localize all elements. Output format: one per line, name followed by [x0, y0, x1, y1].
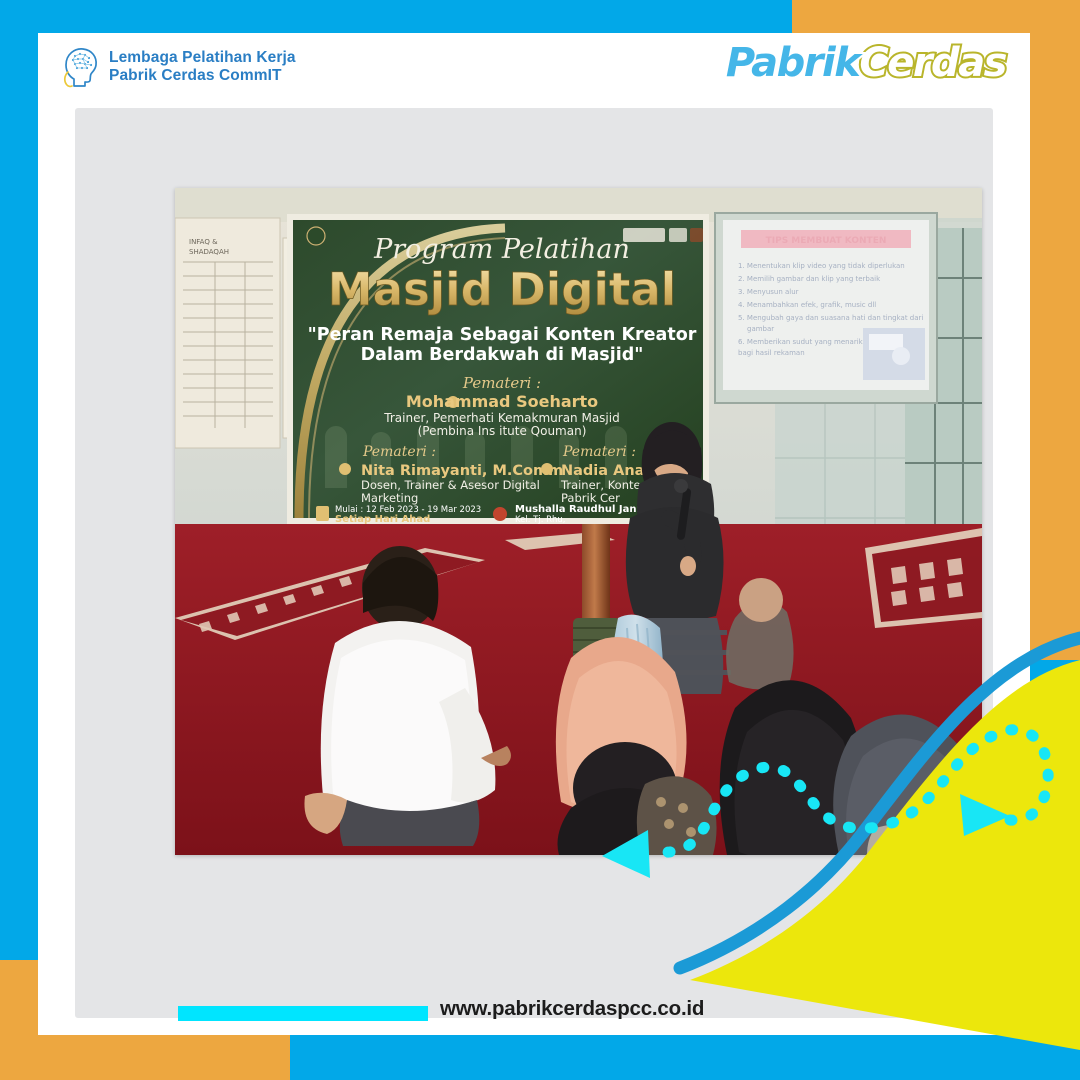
frame-right-blue [1030, 660, 1080, 1080]
brain-head-icon [60, 45, 100, 89]
svg-text:gambar: gambar [747, 325, 774, 333]
svg-text:Mushalla Raudhul Jannah: Mushalla Raudhul Jannah [515, 504, 657, 515]
svg-text:4. Menambahkan efek, grafik, m: 4. Menambahkan efek, grafik, music dll [738, 301, 876, 309]
svg-text:Pemateri :: Pemateri : [562, 444, 636, 460]
svg-text:Marketing: Marketing [361, 491, 418, 505]
banner-title: Masjid Digital [328, 263, 676, 316]
svg-text:INFAQ &: INFAQ & [189, 238, 218, 246]
svg-text:Pabrik Cer: Pabrik Cer [561, 491, 620, 505]
brand-text: Lembaga Pelatihan Kerja Pabrik Cerdas Co… [109, 49, 296, 86]
svg-text:Pemateri :: Pemateri : [462, 374, 541, 392]
svg-text:Setiap Hari Ahad: Setiap Hari Ahad [335, 514, 430, 525]
svg-text:1. Menentukan klip video yang: 1. Menentukan klip video yang tidak dipe… [738, 262, 905, 270]
logo-word-cerdas: Cerdas [859, 43, 1006, 83]
poster-canvas: Lembaga Pelatihan Kerja Pabrik Cerdas Co… [0, 0, 1080, 1080]
svg-text:SHADAQAH: SHADAQAH [189, 248, 229, 256]
svg-text:TIPS MEMBUAT KONTEN: TIPS MEMBUAT KONTEN [766, 236, 887, 246]
brand-lockup: Lembaga Pelatihan Kerja Pabrik Cerdas Co… [60, 45, 296, 89]
svg-text:Trainer, Pemerhati Kemakmuran: Trainer, Pemerhati Kemakmuran Masjid [383, 411, 619, 425]
svg-text:5. Mengubah gaya dan suasana h: 5. Mengubah gaya dan suasana hati dan ti… [738, 314, 923, 322]
svg-text:Trainer, Konten: Trainer, Konten [560, 478, 648, 492]
svg-text:2. Memilih gambar dan klip yan: 2. Memilih gambar dan klip yang terbaik [738, 275, 881, 283]
content-panel: INFAQ &SHADAQAH [75, 108, 993, 1018]
svg-text:6. Memberikan sudut yang menar: 6. Memberikan sudut yang menarik [738, 338, 864, 346]
footer-bar: www.pabrikcerdaspcc.co.id [75, 988, 993, 1048]
svg-text:(Pembina Ins itute Qouman): (Pembina Ins itute Qouman) [418, 424, 587, 438]
brand-line-1: Lembaga Pelatihan Kerja [109, 49, 296, 67]
svg-text:Kel. Tj. Rhu,: Kel. Tj. Rhu, [515, 515, 566, 525]
svg-text:Mohammad Soeharto: Mohammad Soeharto [406, 392, 598, 411]
cyan-accent-bar [178, 1006, 428, 1021]
website-url[interactable]: www.pabrikcerdaspcc.co.id [440, 997, 704, 1021]
pabrik-cerdas-logo: PabrikCerdas [726, 43, 1006, 83]
svg-text:Nadia Anan: Nadia Anan [561, 463, 655, 479]
event-photo: INFAQ &SHADAQAH [175, 188, 982, 855]
frame-top-blue [0, 0, 792, 33]
logo-word-pabrik: Pabrik [726, 43, 859, 83]
svg-text:Nita Rimayanti, M.Comm: Nita Rimayanti, M.Comm [361, 463, 563, 479]
event-photo-illustration: INFAQ &SHADAQAH [175, 188, 982, 855]
frame-left-blue [0, 0, 38, 1080]
svg-text:"Peran Remaja Sebagai Konten K: "Peran Remaja Sebagai Konten Kreator [308, 325, 697, 345]
poster-card: Lembaga Pelatihan Kerja Pabrik Cerdas Co… [38, 33, 1030, 1035]
svg-text:bagi hasil rekaman: bagi hasil rekaman [738, 349, 805, 357]
banner-eyebrow: Program Pelatihan [373, 234, 630, 265]
brand-line-2: Pabrik Cerdas CommIT [109, 67, 296, 85]
frame-right-orange [1030, 0, 1080, 660]
svg-text:Dosen, Trainer & Asesor Digita: Dosen, Trainer & Asesor Digital [361, 478, 540, 492]
poster-header: Lembaga Pelatihan Kerja Pabrik Cerdas Co… [38, 33, 1030, 108]
svg-text:Pemateri :: Pemateri : [362, 444, 436, 460]
svg-text:3. Menyusun alur: 3. Menyusun alur [738, 288, 799, 296]
svg-text:Dalam Berdakwah di Masjid": Dalam Berdakwah di Masjid" [361, 345, 644, 365]
